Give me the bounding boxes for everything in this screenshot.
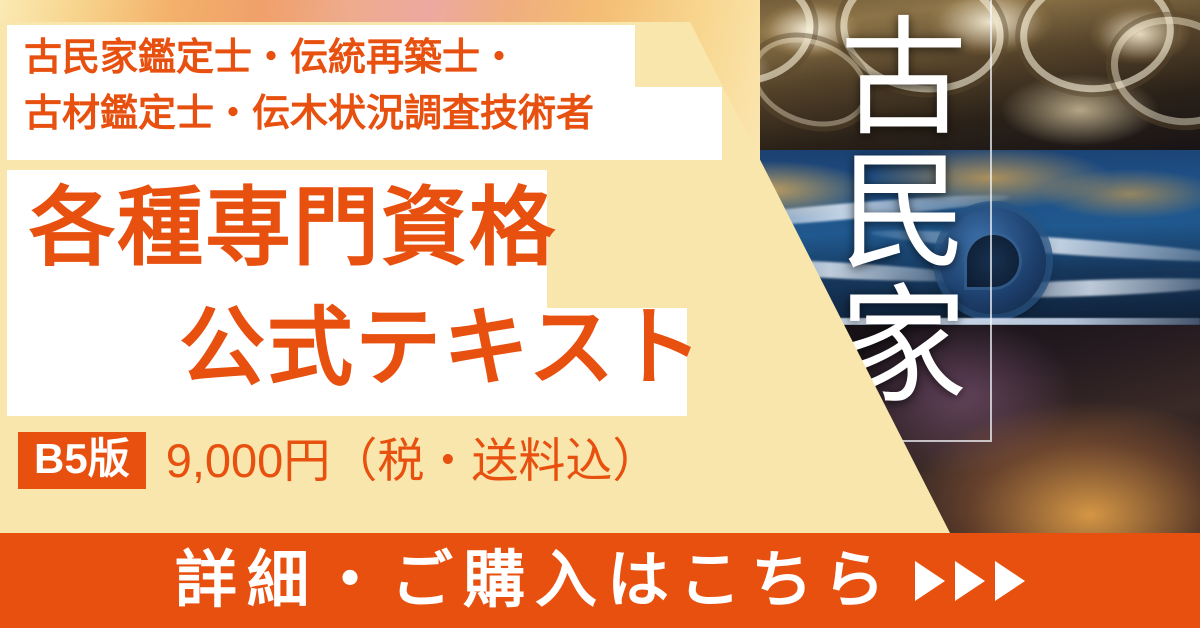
- promo-banner: 古民家 伝統構法、古民家活用のための調査と再生の 古民家鑑定士・伝統再築士・ 古…: [0, 0, 1200, 628]
- headline-line-1: 各種専門資格: [29, 178, 557, 279]
- qualifications-panel: 古民家鑑定士・伝統再築士・ 古材鑑定士・伝木状況調査技術者: [7, 25, 722, 160]
- headline-panel: 各種専門資格 公式テキスト: [7, 170, 687, 416]
- qualifications-text: 古民家鑑定士・伝統再築士・ 古材鑑定士・伝木状況調査技術者: [24, 30, 724, 142]
- qualifications-line-1: 古民家鑑定士・伝統再築士・: [24, 30, 724, 86]
- triangle-right-icon: [995, 561, 1025, 601]
- format-badge: B5版: [18, 432, 146, 489]
- cta-bar[interactable]: 詳細・ご購入はこちら: [0, 533, 1200, 628]
- qualifications-line-2: 古材鑑定士・伝木状況調査技術者: [24, 86, 724, 142]
- cta-label[interactable]: 詳細・ご購入はこちら: [175, 550, 895, 612]
- triangle-right-icon: [915, 561, 945, 601]
- price-value: 9,000円（税・送料込）: [166, 435, 660, 487]
- price-row: B5版 9,000円（税・送料込）: [18, 432, 659, 489]
- triangle-right-icon: [955, 561, 985, 601]
- cta-arrows: [915, 561, 1025, 601]
- headline-line-2: 公式テキスト: [179, 298, 704, 399]
